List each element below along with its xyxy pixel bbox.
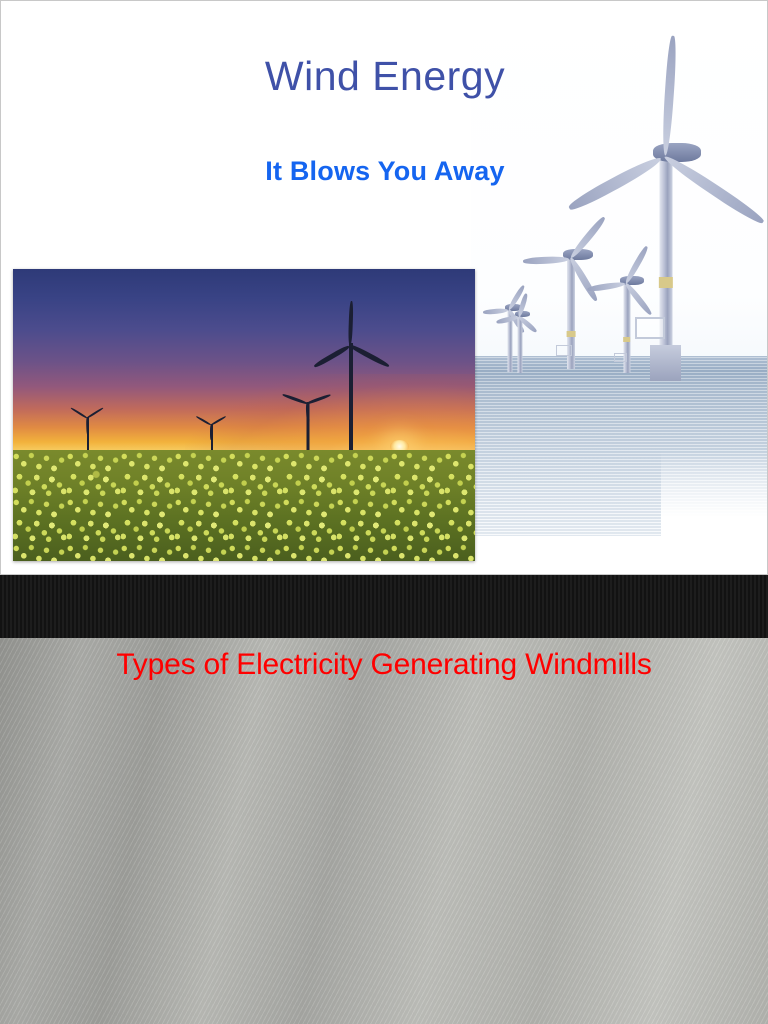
- title-slide: Wind Energy It Blows You Away: [0, 0, 768, 575]
- sunset-turbine-1: [349, 343, 353, 459]
- page-subtitle: It Blows You Away: [1, 156, 768, 187]
- turbine-base: [650, 345, 681, 381]
- turbine-platform: [635, 317, 665, 339]
- slide-deck: Wind Energy It Blows You Away: [0, 0, 768, 1024]
- turbine-mast: [349, 343, 353, 459]
- turbine-band: [623, 337, 631, 342]
- offshore-turbine-2: [567, 253, 575, 369]
- types-slide-title: Types of Electricity Generating Windmill…: [0, 648, 768, 682]
- turbine-band: [658, 277, 672, 288]
- offshore-turbine-5: [517, 313, 522, 373]
- turbine-band: [567, 331, 576, 337]
- offshore-turbine-3: [623, 279, 630, 373]
- sunset-windfarm-canola-field-photo: [13, 269, 475, 561]
- slide-gap-divider: [0, 575, 768, 638]
- turbine-blade: [210, 425, 212, 440]
- turbine-platform: [614, 353, 627, 362]
- page-title: Wind Energy: [1, 53, 768, 100]
- canola-field: [13, 450, 475, 561]
- types-slide: Types of Electricity Generating Windmill…: [0, 638, 768, 1024]
- turbine-platform: [556, 345, 572, 356]
- offshore-sea-fade: [661, 451, 768, 536]
